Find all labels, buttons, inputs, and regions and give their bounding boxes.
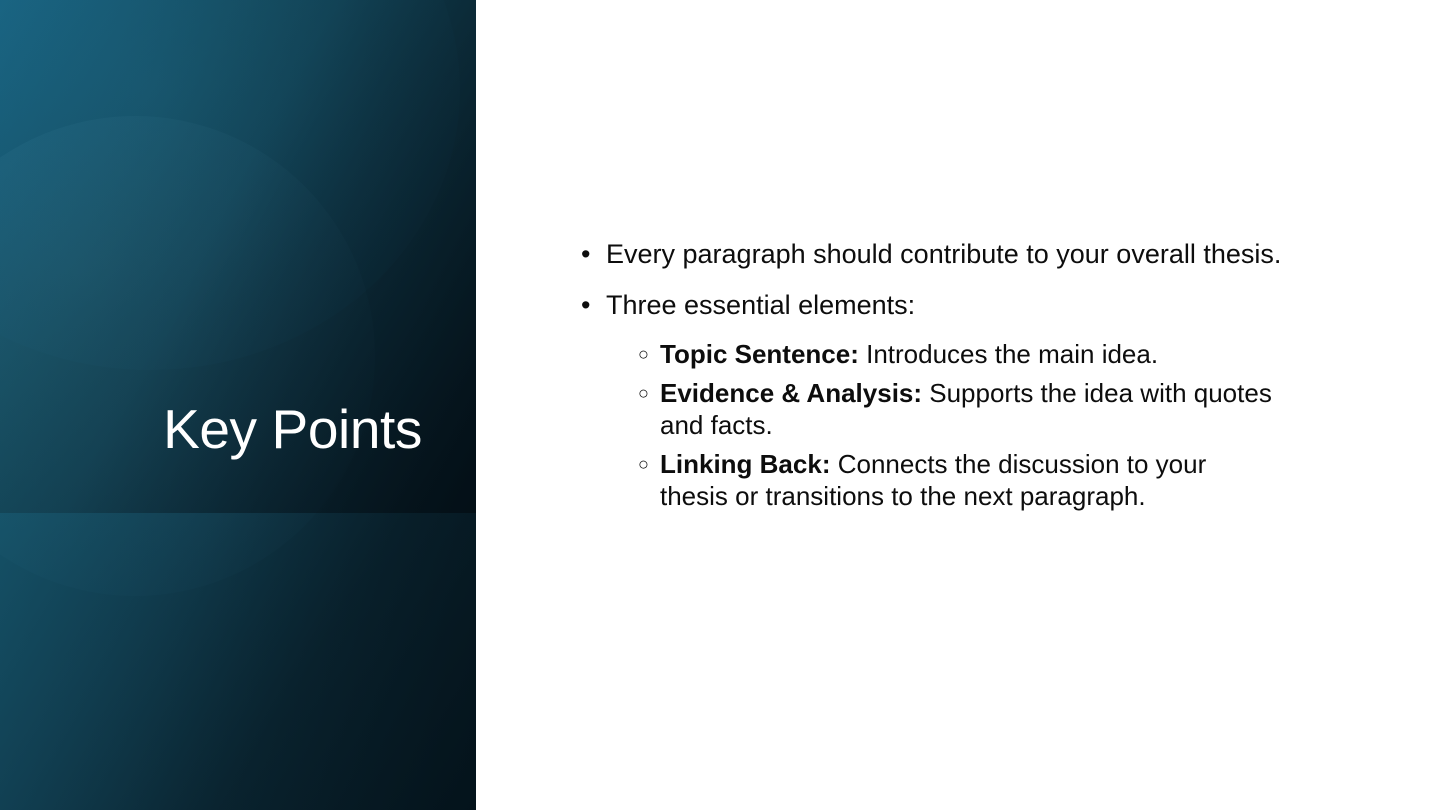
sub-bullet-lead: Linking Back: [660,449,830,479]
sub-bullet-lead: Evidence & Analysis: [660,378,922,408]
bullet-circle-icon: ○ [638,338,649,371]
content-area: • Every paragraph should contribute to y… [476,0,1440,810]
body-bullet-list: • Every paragraph should contribute to y… [476,236,1440,519]
bullet-text: Every paragraph should contribute to you… [606,239,1281,269]
sub-bullet-item: ○ Evidence & Analysis: Supports the idea… [476,377,1440,441]
title-panel: Key Points [0,0,476,810]
panel-lower-band [0,513,476,810]
sub-bullet-lead: Topic Sentence: [660,339,859,369]
bullet-text: Three essential elements: [606,290,915,320]
bullet-circle-icon: ○ [638,448,649,481]
sub-bullet-list: ○ Topic Sentence: Introduces the main id… [476,338,1440,512]
sub-bullet-text: Introduces the main idea. [859,339,1158,369]
sub-bullet-item: ○ Topic Sentence: Introduces the main id… [476,338,1440,370]
slide-title: Key Points [0,398,422,460]
slide: Key Points • Every paragraph should cont… [0,0,1440,810]
bullet-dot-icon: • [581,287,590,324]
sub-bullet-item: ○ Linking Back: Connects the discussion … [476,448,1440,512]
bullet-circle-icon: ○ [638,377,649,410]
bullet-dot-icon: • [581,236,590,273]
bullet-item: • Three essential elements: [476,287,1440,324]
bullet-item: • Every paragraph should contribute to y… [476,236,1440,273]
